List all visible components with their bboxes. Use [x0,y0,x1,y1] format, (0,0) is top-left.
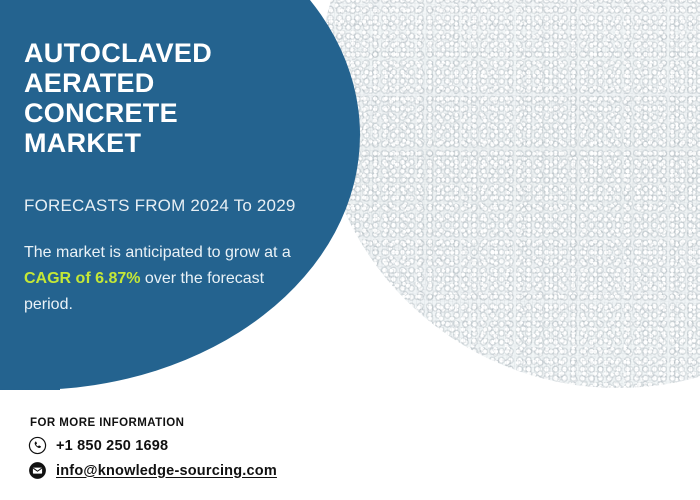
title-line-3: CONCRETE [24,98,324,128]
title-line-2: AERATED [24,68,324,98]
summary-text-before: The market is anticipated to grow at a [24,244,291,261]
title-line-4: MARKET [24,128,324,158]
contact-heading: FOR MORE INFORMATION [30,417,184,429]
email-contact-row[interactable]: info@knowledge-sourcing.com [28,461,277,480]
phone-number: +1 850 250 1698 [56,438,168,454]
cagr-highlight: CAGR of 6.87% [24,270,140,287]
texture-grain-overlay [318,0,700,388]
market-summary-text: The market is anticipated to grow at a C… [24,240,314,318]
forecast-period-subtitle: FORECASTS FROM 2024 To 2029 [24,196,296,216]
phone-icon [28,436,47,455]
phone-contact-row[interactable]: +1 850 250 1698 [28,436,168,455]
infographic-card: AUTOCLAVED AERATED CONCRETE MARKET FOREC… [0,0,700,500]
title-line-1: AUTOCLAVED [24,38,324,68]
email-icon [28,461,47,480]
email-address[interactable]: info@knowledge-sourcing.com [56,463,277,479]
hero-text-layer: AUTOCLAVED AERATED CONCRETE MARKET FOREC… [0,0,360,400]
contact-footer: FOR MORE INFORMATION +1 850 250 1698 inf… [0,400,700,500]
page-title: AUTOCLAVED AERATED CONCRETE MARKET [24,38,324,158]
product-photo-circle [318,0,700,388]
